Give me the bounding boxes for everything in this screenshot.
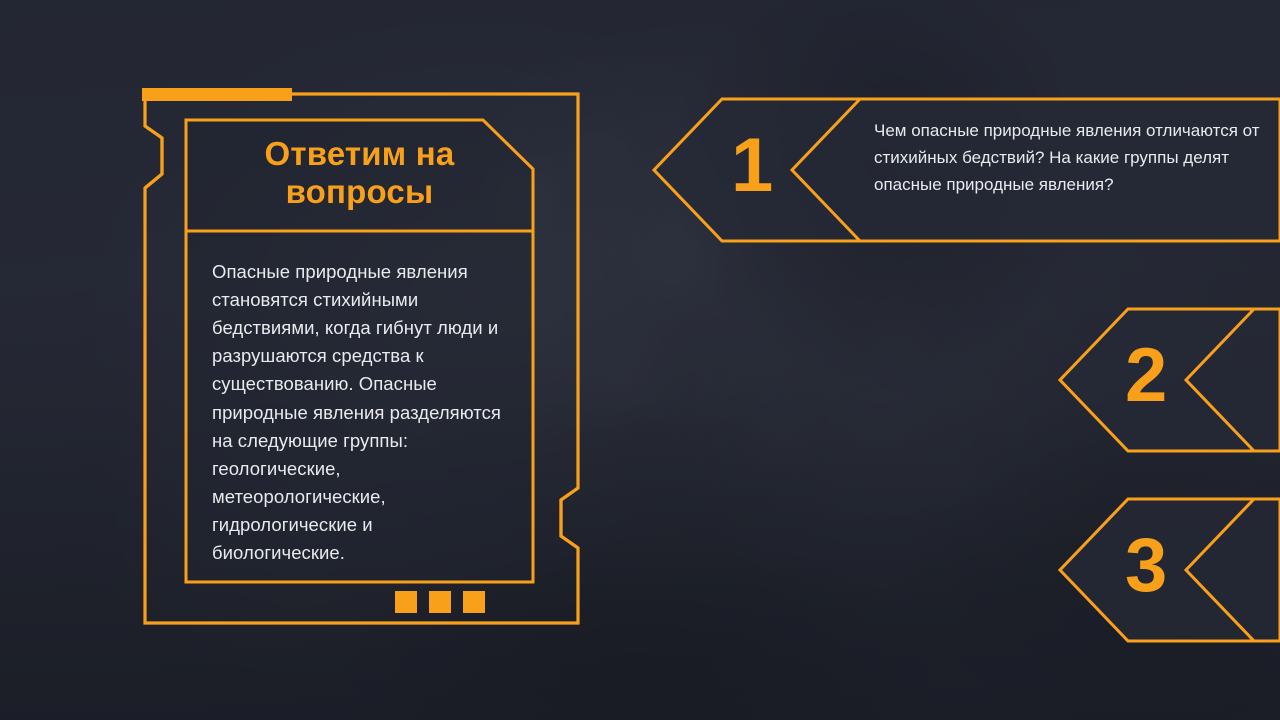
decor-square (429, 591, 451, 613)
decor-square (395, 591, 417, 613)
question-item-3[interactable]: 3 (1058, 496, 1280, 644)
card-body-box: Опасные природные явления становятся сти… (186, 240, 533, 582)
card-title-box: Ответим на вопросы (186, 120, 533, 231)
slide-canvas: Ответим на вопросы Опасные природные явл… (0, 0, 1280, 720)
question-2-chevron (1058, 306, 1280, 454)
answer-card: Ответим на вопросы Опасные природные явл… (142, 88, 590, 633)
frame-notch-right (561, 488, 578, 548)
question-item-1[interactable]: 1 Чем опасные природные явления отличают… (652, 96, 1280, 244)
question-2-banner-shape (1060, 309, 1280, 451)
decor-squares-group (395, 591, 485, 613)
question-3-chevron (1058, 496, 1280, 644)
page-title: Ответим на вопросы (204, 135, 515, 210)
body-paragraph: Опасные природные явления становятся сти… (212, 258, 509, 567)
frame-notch-left (145, 126, 162, 188)
decor-square (463, 591, 485, 613)
question-3-banner-shape (1060, 499, 1280, 641)
question-item-2[interactable]: 2 (1058, 306, 1280, 454)
question-2-number: 2 (1125, 338, 1167, 414)
question-1-number: 1 (731, 128, 773, 204)
question-1-text: Чем опасные природные явления отличаются… (874, 118, 1266, 199)
question-3-number: 3 (1125, 528, 1167, 604)
